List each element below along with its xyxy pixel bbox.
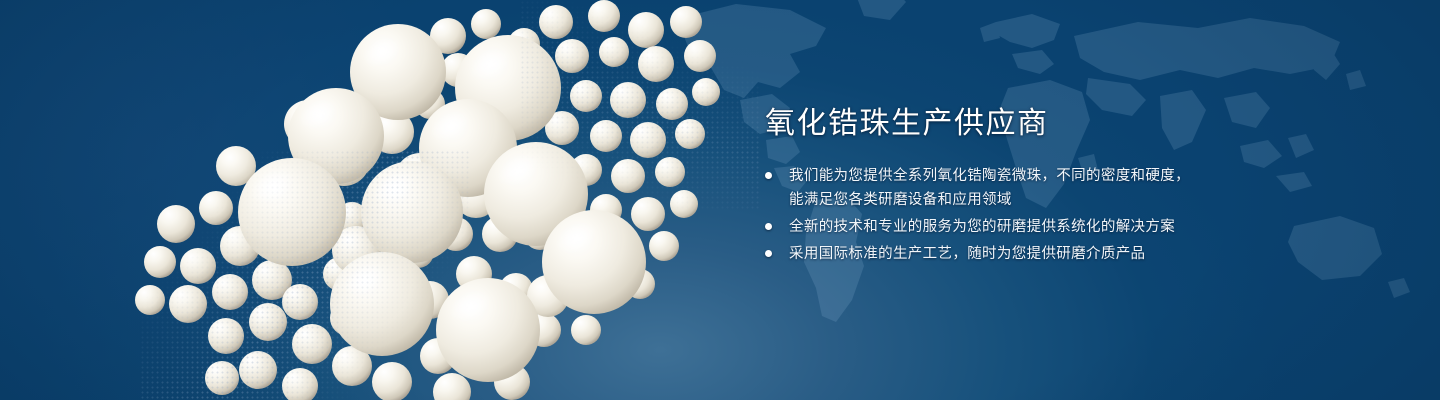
feature-line-1: 采用国际标准的生产工艺，随时为您提供研磨介质产品 [789, 246, 1145, 262]
feature-line-1: 全新的技术和专业的服务为您的研磨提供系统化的解决方案 [789, 219, 1175, 235]
bullet-circle-icon [765, 223, 772, 230]
list-item: 采用国际标准的生产工艺，随时为您提供研磨介质产品 [765, 242, 1325, 266]
feature-text: 采用国际标准的生产工艺，随时为您提供研磨介质产品 [789, 242, 1145, 266]
feature-line-2: 能满足您各类研磨设备和应用领域 [789, 188, 1190, 212]
feature-text: 全新的技术和专业的服务为您的研磨提供系统化的解决方案 [789, 215, 1175, 239]
bullet-circle-icon [765, 172, 772, 179]
feature-text: 我们能为您提供全系列氧化锆陶瓷微珠，不同的密度和硬度， 能满足您各类研磨设备和应… [789, 164, 1190, 212]
zirconia-beads-image [0, 0, 760, 400]
list-item: 全新的技术和专业的服务为您的研磨提供系统化的解决方案 [765, 215, 1325, 239]
list-item: 我们能为您提供全系列氧化锆陶瓷微珠，不同的密度和硬度， 能满足您各类研磨设备和应… [765, 164, 1325, 212]
feature-list: 我们能为您提供全系列氧化锆陶瓷微珠，不同的密度和硬度， 能满足您各类研磨设备和应… [765, 164, 1325, 266]
feature-line-1: 我们能为您提供全系列氧化锆陶瓷微珠，不同的密度和硬度， [789, 168, 1190, 184]
page-title: 氧化锆珠生产供应商 [765, 104, 1325, 144]
bullet-circle-icon [765, 250, 772, 257]
banner-content: 氧化锆珠生产供应商 我们能为您提供全系列氧化锆陶瓷微珠，不同的密度和硬度， 能满… [765, 104, 1325, 269]
hero-banner: 氧化锆珠生产供应商 我们能为您提供全系列氧化锆陶瓷微珠，不同的密度和硬度， 能满… [0, 0, 1440, 400]
